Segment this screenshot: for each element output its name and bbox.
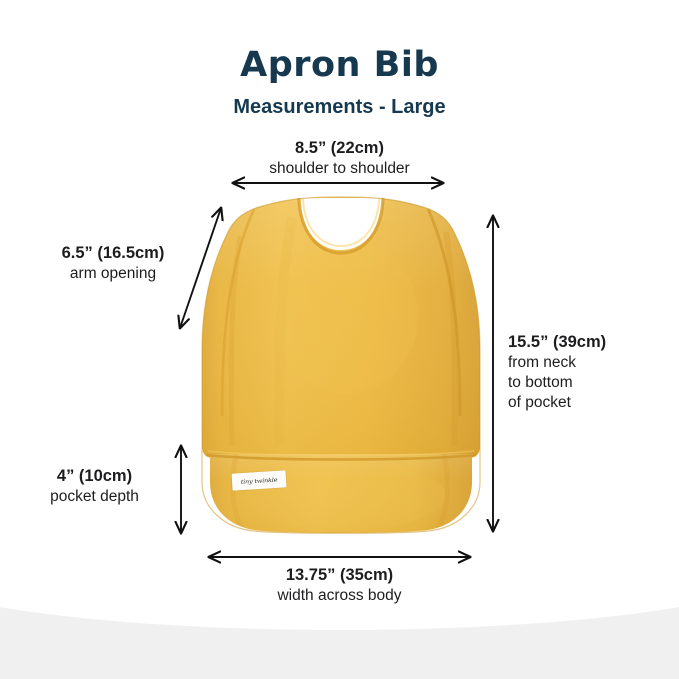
- measurement-arm-opening-value: 6.5” (16.5cm): [18, 243, 208, 264]
- page-title: Apron Bib: [0, 45, 679, 85]
- measurement-length-value: 15.5” (39cm): [508, 332, 678, 353]
- apron-bib-illustration: tiny twinkle: [196, 196, 486, 536]
- measurement-shoulder: 8.5” (22cm) shoulder to shoulder: [0, 138, 679, 179]
- page-subtitle: Measurements - Large: [0, 96, 679, 119]
- measurement-shoulder-description: shoulder to shoulder: [0, 159, 679, 179]
- brand-label-tag: tiny twinkle: [232, 470, 287, 490]
- measurement-shoulder-value: 8.5” (22cm): [0, 138, 679, 159]
- measurement-pocket-depth-value: 4” (10cm): [12, 466, 177, 487]
- measurement-body-width: 13.75” (35cm) width across body: [0, 565, 679, 606]
- measurement-body-width-value: 13.75” (35cm): [0, 565, 679, 586]
- measurement-pocket-depth-description: pocket depth: [12, 487, 177, 507]
- measurement-length-description-line2: to bottom: [508, 373, 678, 393]
- brand-label-text: tiny twinkle: [241, 476, 278, 485]
- measurement-length: 15.5” (39cm) from neck to bottom of pock…: [508, 332, 678, 413]
- measurement-arm-opening: 6.5” (16.5cm) arm opening: [18, 243, 208, 284]
- measurement-pocket-depth: 4” (10cm) pocket depth: [12, 466, 177, 507]
- measurement-body-width-description: width across body: [0, 586, 679, 606]
- measurement-length-description-line1: from neck: [508, 353, 678, 373]
- measurement-length-description-line3: of pocket: [508, 393, 678, 413]
- measurement-arm-opening-description: arm opening: [18, 264, 208, 284]
- measurement-infographic: Apron Bib Measurements - Large: [0, 0, 679, 679]
